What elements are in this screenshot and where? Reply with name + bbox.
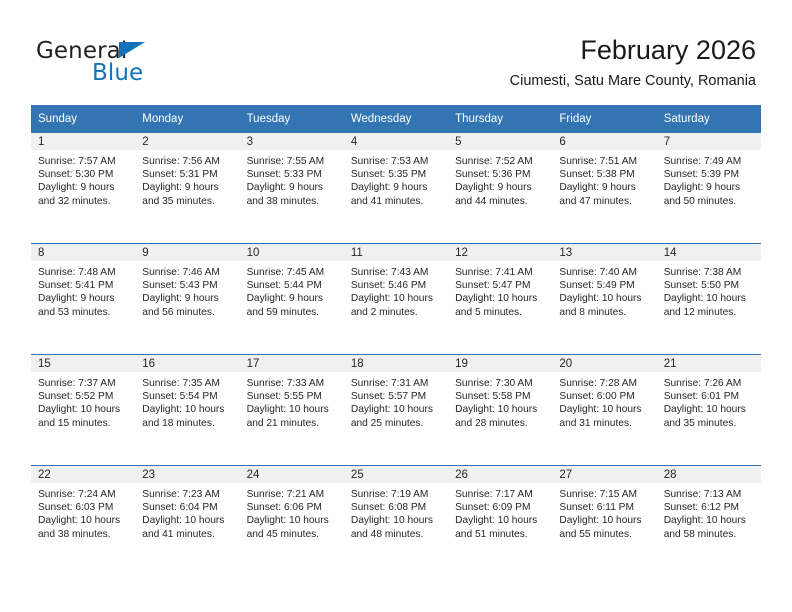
day-info: Sunrise: 7:23 AM Sunset: 6:04 PM Dayligh… [135,483,239,541]
sunset-text: Sunset: 6:09 PM [455,501,546,514]
sunrise-text: Sunrise: 7:23 AM [142,488,233,501]
week-row: 15 Sunrise: 7:37 AM Sunset: 5:52 PM Dayl… [31,355,761,466]
sunset-text: Sunset: 5:35 PM [351,168,442,181]
sunset-text: Sunset: 6:06 PM [247,501,338,514]
sunrise-text: Sunrise: 7:37 AM [38,377,129,390]
day-info: Sunrise: 7:30 AM Sunset: 5:58 PM Dayligh… [448,372,552,430]
daylight-text-line2: and 31 minutes. [559,417,650,430]
sunrise-text: Sunrise: 7:45 AM [247,266,338,279]
day-cell[interactable]: 28 Sunrise: 7:13 AM Sunset: 6:12 PM Dayl… [657,466,761,577]
sunrise-text: Sunrise: 7:19 AM [351,488,442,501]
sunrise-text: Sunrise: 7:35 AM [142,377,233,390]
page-subtitle: Ciumesti, Satu Mare County, Romania [510,72,756,90]
daylight-text-line1: Daylight: 10 hours [455,514,546,527]
daylight-text-line2: and 8 minutes. [559,306,650,319]
day-number: 2 [135,133,239,150]
daylight-text-line2: and 15 minutes. [38,417,129,430]
sunrise-text: Sunrise: 7:48 AM [38,266,129,279]
day-info: Sunrise: 7:55 AM Sunset: 5:33 PM Dayligh… [240,150,344,208]
daylight-text-line2: and 51 minutes. [455,528,546,541]
day-info: Sunrise: 7:57 AM Sunset: 5:30 PM Dayligh… [31,150,135,208]
calendar-table: Sunday Monday Tuesday Wednesday Thursday… [31,105,761,576]
sunset-text: Sunset: 5:31 PM [142,168,233,181]
day-number: 19 [448,355,552,372]
day-cell[interactable]: 6 Sunrise: 7:51 AM Sunset: 5:38 PM Dayli… [552,133,656,244]
day-number: 17 [240,355,344,372]
day-info: Sunrise: 7:51 AM Sunset: 5:38 PM Dayligh… [552,150,656,208]
day-cell[interactable]: 9 Sunrise: 7:46 AM Sunset: 5:43 PM Dayli… [135,244,239,355]
daylight-text-line1: Daylight: 10 hours [38,514,129,527]
sunrise-text: Sunrise: 7:56 AM [142,155,233,168]
daylight-text-line2: and 50 minutes. [664,195,755,208]
day-cell[interactable]: 1 Sunrise: 7:57 AM Sunset: 5:30 PM Dayli… [31,133,135,244]
day-number: 3 [240,133,344,150]
daylight-text-line2: and 38 minutes. [38,528,129,541]
day-cell[interactable]: 14 Sunrise: 7:38 AM Sunset: 5:50 PM Dayl… [657,244,761,355]
day-number: 13 [552,244,656,261]
daylight-text-line2: and 28 minutes. [455,417,546,430]
day-number: 5 [448,133,552,150]
daylight-text-line1: Daylight: 10 hours [38,403,129,416]
sunset-text: Sunset: 6:08 PM [351,501,442,514]
daylight-text-line1: Daylight: 10 hours [455,403,546,416]
sunrise-text: Sunrise: 7:30 AM [455,377,546,390]
sunset-text: Sunset: 5:39 PM [664,168,755,181]
daylight-text-line2: and 44 minutes. [455,195,546,208]
daylight-text-line2: and 47 minutes. [559,195,650,208]
day-cell[interactable]: 23 Sunrise: 7:23 AM Sunset: 6:04 PM Dayl… [135,466,239,577]
day-info: Sunrise: 7:31 AM Sunset: 5:57 PM Dayligh… [344,372,448,430]
day-info: Sunrise: 7:46 AM Sunset: 5:43 PM Dayligh… [135,261,239,319]
day-number: 9 [135,244,239,261]
sunrise-text: Sunrise: 7:24 AM [38,488,129,501]
weekday-header-saturday: Saturday [657,105,761,133]
sunset-text: Sunset: 6:04 PM [142,501,233,514]
daylight-text-line1: Daylight: 10 hours [247,403,338,416]
sunrise-text: Sunrise: 7:41 AM [455,266,546,279]
daylight-text-line1: Daylight: 10 hours [142,514,233,527]
day-cell[interactable]: 18 Sunrise: 7:31 AM Sunset: 5:57 PM Dayl… [344,355,448,466]
sunset-text: Sunset: 6:01 PM [664,390,755,403]
daylight-text-line1: Daylight: 9 hours [247,292,338,305]
weekday-header-monday: Monday [135,105,239,133]
daylight-text-line1: Daylight: 10 hours [455,292,546,305]
day-cell[interactable]: 25 Sunrise: 7:19 AM Sunset: 6:08 PM Dayl… [344,466,448,577]
daylight-text-line2: and 55 minutes. [559,528,650,541]
sunset-text: Sunset: 5:58 PM [455,390,546,403]
daylight-text-line2: and 2 minutes. [351,306,442,319]
daylight-text-line1: Daylight: 9 hours [142,181,233,194]
day-info: Sunrise: 7:45 AM Sunset: 5:44 PM Dayligh… [240,261,344,319]
weekday-header-tuesday: Tuesday [240,105,344,133]
day-number: 10 [240,244,344,261]
day-number: 22 [31,466,135,483]
day-cell[interactable]: 19 Sunrise: 7:30 AM Sunset: 5:58 PM Dayl… [448,355,552,466]
day-number: 6 [552,133,656,150]
sunset-text: Sunset: 6:12 PM [664,501,755,514]
sunset-text: Sunset: 5:50 PM [664,279,755,292]
day-number: 21 [657,355,761,372]
calendar-page: General Blue February 2026 Ciumesti, Sat… [0,0,792,612]
logo-text-blue: Blue [92,60,143,86]
day-number: 14 [657,244,761,261]
sunset-text: Sunset: 5:41 PM [38,279,129,292]
daylight-text-line1: Daylight: 9 hours [559,181,650,194]
daylight-text-line1: Daylight: 10 hours [351,514,442,527]
day-number: 27 [552,466,656,483]
day-number: 1 [31,133,135,150]
daylight-text-line2: and 35 minutes. [664,417,755,430]
daylight-text-line2: and 59 minutes. [247,306,338,319]
day-cell[interactable]: 21 Sunrise: 7:26 AM Sunset: 6:01 PM Dayl… [657,355,761,466]
day-cell[interactable]: 2 Sunrise: 7:56 AM Sunset: 5:31 PM Dayli… [135,133,239,244]
day-cell[interactable]: 22 Sunrise: 7:24 AM Sunset: 6:03 PM Dayl… [31,466,135,577]
day-info: Sunrise: 7:35 AM Sunset: 5:54 PM Dayligh… [135,372,239,430]
week-row: 1 Sunrise: 7:57 AM Sunset: 5:30 PM Dayli… [31,133,761,244]
day-info: Sunrise: 7:48 AM Sunset: 5:41 PM Dayligh… [31,261,135,319]
sunset-text: Sunset: 5:52 PM [38,390,129,403]
daylight-text-line1: Daylight: 9 hours [38,181,129,194]
day-info: Sunrise: 7:24 AM Sunset: 6:03 PM Dayligh… [31,483,135,541]
day-info: Sunrise: 7:15 AM Sunset: 6:11 PM Dayligh… [552,483,656,541]
daylight-text-line2: and 18 minutes. [142,417,233,430]
day-cell[interactable]: 4 Sunrise: 7:53 AM Sunset: 5:35 PM Dayli… [344,133,448,244]
sunrise-text: Sunrise: 7:49 AM [664,155,755,168]
sunrise-text: Sunrise: 7:17 AM [455,488,546,501]
sunset-text: Sunset: 5:44 PM [247,279,338,292]
page-title: February 2026 [510,34,756,66]
sunset-text: Sunset: 6:00 PM [559,390,650,403]
day-cell[interactable]: 15 Sunrise: 7:37 AM Sunset: 5:52 PM Dayl… [31,355,135,466]
sunset-text: Sunset: 5:47 PM [455,279,546,292]
sunset-text: Sunset: 5:33 PM [247,168,338,181]
day-number: 16 [135,355,239,372]
daylight-text-line2: and 45 minutes. [247,528,338,541]
daylight-text-line2: and 25 minutes. [351,417,442,430]
day-info: Sunrise: 7:26 AM Sunset: 6:01 PM Dayligh… [657,372,761,430]
daylight-text-line1: Daylight: 10 hours [142,403,233,416]
day-cell[interactable]: 26 Sunrise: 7:17 AM Sunset: 6:09 PM Dayl… [448,466,552,577]
day-cell[interactable]: 10 Sunrise: 7:45 AM Sunset: 5:44 PM Dayl… [240,244,344,355]
daylight-text-line2: and 32 minutes. [38,195,129,208]
blue-triangle-icon [119,42,145,58]
sunrise-text: Sunrise: 7:38 AM [664,266,755,279]
day-cell[interactable]: 13 Sunrise: 7:40 AM Sunset: 5:49 PM Dayl… [552,244,656,355]
day-cell[interactable]: 17 Sunrise: 7:33 AM Sunset: 5:55 PM Dayl… [240,355,344,466]
day-number: 4 [344,133,448,150]
daylight-text-line2: and 35 minutes. [142,195,233,208]
daylight-text-line1: Daylight: 10 hours [664,514,755,527]
daylight-text-line1: Daylight: 10 hours [351,292,442,305]
page-header: General Blue February 2026 Ciumesti, Sat… [0,0,792,100]
weekday-header-row: Sunday Monday Tuesday Wednesday Thursday… [31,105,761,133]
day-cell[interactable]: 12 Sunrise: 7:41 AM Sunset: 5:47 PM Dayl… [448,244,552,355]
daylight-text-line1: Daylight: 10 hours [559,403,650,416]
sunset-text: Sunset: 5:49 PM [559,279,650,292]
daylight-text-line2: and 12 minutes. [664,306,755,319]
daylight-text-line2: and 38 minutes. [247,195,338,208]
daylight-text-line2: and 41 minutes. [351,195,442,208]
day-number: 23 [135,466,239,483]
daylight-text-line1: Daylight: 10 hours [351,403,442,416]
day-info: Sunrise: 7:38 AM Sunset: 5:50 PM Dayligh… [657,261,761,319]
day-number: 18 [344,355,448,372]
day-cell[interactable]: 27 Sunrise: 7:15 AM Sunset: 6:11 PM Dayl… [552,466,656,577]
day-info: Sunrise: 7:37 AM Sunset: 5:52 PM Dayligh… [31,372,135,430]
general-blue-logo[interactable]: General Blue [36,38,266,90]
weekday-header-wednesday: Wednesday [344,105,448,133]
day-info: Sunrise: 7:49 AM Sunset: 5:39 PM Dayligh… [657,150,761,208]
daylight-text-line1: Daylight: 10 hours [559,292,650,305]
sunset-text: Sunset: 6:03 PM [38,501,129,514]
day-cell[interactable]: 11 Sunrise: 7:43 AM Sunset: 5:46 PM Dayl… [344,244,448,355]
sunrise-text: Sunrise: 7:21 AM [247,488,338,501]
day-cell[interactable]: 20 Sunrise: 7:28 AM Sunset: 6:00 PM Dayl… [552,355,656,466]
weekday-header-sunday: Sunday [31,105,135,133]
sunset-text: Sunset: 5:43 PM [142,279,233,292]
day-info: Sunrise: 7:17 AM Sunset: 6:09 PM Dayligh… [448,483,552,541]
day-info: Sunrise: 7:40 AM Sunset: 5:49 PM Dayligh… [552,261,656,319]
daylight-text-line1: Daylight: 9 hours [351,181,442,194]
day-number: 24 [240,466,344,483]
day-info: Sunrise: 7:56 AM Sunset: 5:31 PM Dayligh… [135,150,239,208]
title-block: February 2026 Ciumesti, Satu Mare County… [510,34,756,90]
daylight-text-line1: Daylight: 9 hours [664,181,755,194]
daylight-text-line2: and 41 minutes. [142,528,233,541]
sunrise-text: Sunrise: 7:40 AM [559,266,650,279]
day-cell[interactable]: 5 Sunrise: 7:52 AM Sunset: 5:36 PM Dayli… [448,133,552,244]
daylight-text-line1: Daylight: 10 hours [247,514,338,527]
sunset-text: Sunset: 5:54 PM [142,390,233,403]
day-info: Sunrise: 7:28 AM Sunset: 6:00 PM Dayligh… [552,372,656,430]
day-info: Sunrise: 7:19 AM Sunset: 6:08 PM Dayligh… [344,483,448,541]
daylight-text-line1: Daylight: 10 hours [664,292,755,305]
weekday-header-friday: Friday [552,105,656,133]
sunset-text: Sunset: 6:11 PM [559,501,650,514]
day-cell[interactable]: 7 Sunrise: 7:49 AM Sunset: 5:39 PM Dayli… [657,133,761,244]
daylight-text-line2: and 48 minutes. [351,528,442,541]
day-number: 11 [344,244,448,261]
sunrise-text: Sunrise: 7:51 AM [559,155,650,168]
daylight-text-line2: and 53 minutes. [38,306,129,319]
day-info: Sunrise: 7:43 AM Sunset: 5:46 PM Dayligh… [344,261,448,319]
sunrise-text: Sunrise: 7:57 AM [38,155,129,168]
daylight-text-line2: and 56 minutes. [142,306,233,319]
daylight-text-line2: and 21 minutes. [247,417,338,430]
day-number: 20 [552,355,656,372]
daylight-text-line2: and 5 minutes. [455,306,546,319]
day-info: Sunrise: 7:21 AM Sunset: 6:06 PM Dayligh… [240,483,344,541]
sunset-text: Sunset: 5:46 PM [351,279,442,292]
sunrise-text: Sunrise: 7:33 AM [247,377,338,390]
sunrise-text: Sunrise: 7:31 AM [351,377,442,390]
daylight-text-line1: Daylight: 10 hours [664,403,755,416]
daylight-text-line1: Daylight: 9 hours [38,292,129,305]
week-row: 22 Sunrise: 7:24 AM Sunset: 6:03 PM Dayl… [31,466,761,577]
daylight-text-line1: Daylight: 9 hours [247,181,338,194]
day-number: 28 [657,466,761,483]
day-number: 25 [344,466,448,483]
day-cell[interactable]: 8 Sunrise: 7:48 AM Sunset: 5:41 PM Dayli… [31,244,135,355]
sunrise-text: Sunrise: 7:52 AM [455,155,546,168]
day-number: 7 [657,133,761,150]
sunrise-text: Sunrise: 7:46 AM [142,266,233,279]
day-info: Sunrise: 7:33 AM Sunset: 5:55 PM Dayligh… [240,372,344,430]
day-info: Sunrise: 7:13 AM Sunset: 6:12 PM Dayligh… [657,483,761,541]
daylight-text-line1: Daylight: 10 hours [559,514,650,527]
sunrise-text: Sunrise: 7:13 AM [664,488,755,501]
day-number: 12 [448,244,552,261]
day-info: Sunrise: 7:53 AM Sunset: 5:35 PM Dayligh… [344,150,448,208]
day-cell[interactable]: 3 Sunrise: 7:55 AM Sunset: 5:33 PM Dayli… [240,133,344,244]
sunset-text: Sunset: 5:30 PM [38,168,129,181]
sunrise-text: Sunrise: 7:53 AM [351,155,442,168]
week-row: 8 Sunrise: 7:48 AM Sunset: 5:41 PM Dayli… [31,244,761,355]
day-number: 15 [31,355,135,372]
sunrise-text: Sunrise: 7:15 AM [559,488,650,501]
sunset-text: Sunset: 5:57 PM [351,390,442,403]
daylight-text-line2: and 58 minutes. [664,528,755,541]
sunset-text: Sunset: 5:36 PM [455,168,546,181]
day-number: 26 [448,466,552,483]
sunrise-text: Sunrise: 7:26 AM [664,377,755,390]
sunrise-text: Sunrise: 7:43 AM [351,266,442,279]
weekday-header-thursday: Thursday [448,105,552,133]
daylight-text-line1: Daylight: 9 hours [142,292,233,305]
day-info: Sunrise: 7:41 AM Sunset: 5:47 PM Dayligh… [448,261,552,319]
sunrise-text: Sunrise: 7:55 AM [247,155,338,168]
sunset-text: Sunset: 5:55 PM [247,390,338,403]
daylight-text-line1: Daylight: 9 hours [455,181,546,194]
day-info: Sunrise: 7:52 AM Sunset: 5:36 PM Dayligh… [448,150,552,208]
sunrise-text: Sunrise: 7:28 AM [559,377,650,390]
day-number: 8 [31,244,135,261]
day-cell[interactable]: 24 Sunrise: 7:21 AM Sunset: 6:06 PM Dayl… [240,466,344,577]
sunset-text: Sunset: 5:38 PM [559,168,650,181]
day-cell[interactable]: 16 Sunrise: 7:35 AM Sunset: 5:54 PM Dayl… [135,355,239,466]
